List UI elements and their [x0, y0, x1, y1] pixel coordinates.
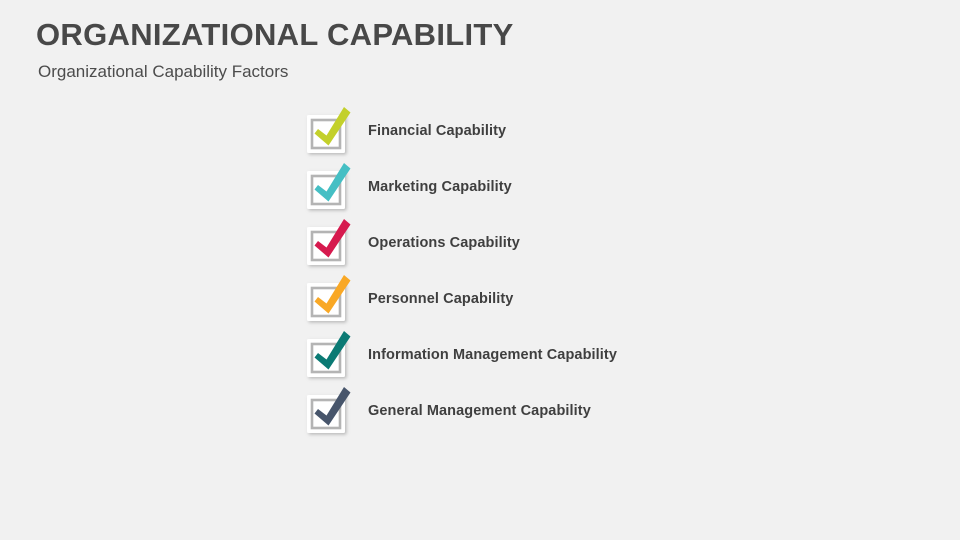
list-item[interactable]: Operations Capability [306, 224, 926, 280]
list-item-label: Marketing Capability [368, 179, 512, 195]
list-item[interactable]: Financial Capability [306, 112, 926, 168]
checkbox-1[interactable] [306, 112, 352, 158]
page-subtitle: Organizational Capability Factors [38, 60, 916, 84]
list-item-label: General Management Capability [368, 403, 591, 419]
list-item-label: Personnel Capability [368, 291, 513, 307]
list-item[interactable]: Personnel Capability [306, 280, 926, 336]
checkbox-4[interactable] [306, 280, 352, 326]
list-item[interactable]: Information Management Capability [306, 336, 926, 392]
slide-canvas: ORGANIZATIONAL CAPABILITY Organizational… [0, 0, 960, 540]
list-item[interactable]: General Management Capability [306, 392, 926, 448]
checkbox-checked-icon [304, 104, 360, 160]
checkbox-checked-icon [304, 328, 360, 384]
checkbox-checked-icon [304, 384, 360, 440]
list-item-label: Financial Capability [368, 123, 506, 139]
list-item-label: Operations Capability [368, 235, 520, 251]
checkbox-6[interactable] [306, 392, 352, 438]
checkbox-checked-icon [304, 216, 360, 272]
slide-header: ORGANIZATIONAL CAPABILITY Organizational… [36, 16, 916, 84]
checkbox-5[interactable] [306, 336, 352, 382]
checkbox-checked-icon [304, 160, 360, 216]
checkbox-checked-icon [304, 272, 360, 328]
list-item-label: Information Management Capability [368, 347, 617, 363]
checkbox-3[interactable] [306, 224, 352, 270]
page-title: ORGANIZATIONAL CAPABILITY [36, 16, 916, 54]
checkbox-2[interactable] [306, 168, 352, 214]
capability-list: Financial CapabilityMarketing Capability… [306, 112, 926, 448]
list-item[interactable]: Marketing Capability [306, 168, 926, 224]
